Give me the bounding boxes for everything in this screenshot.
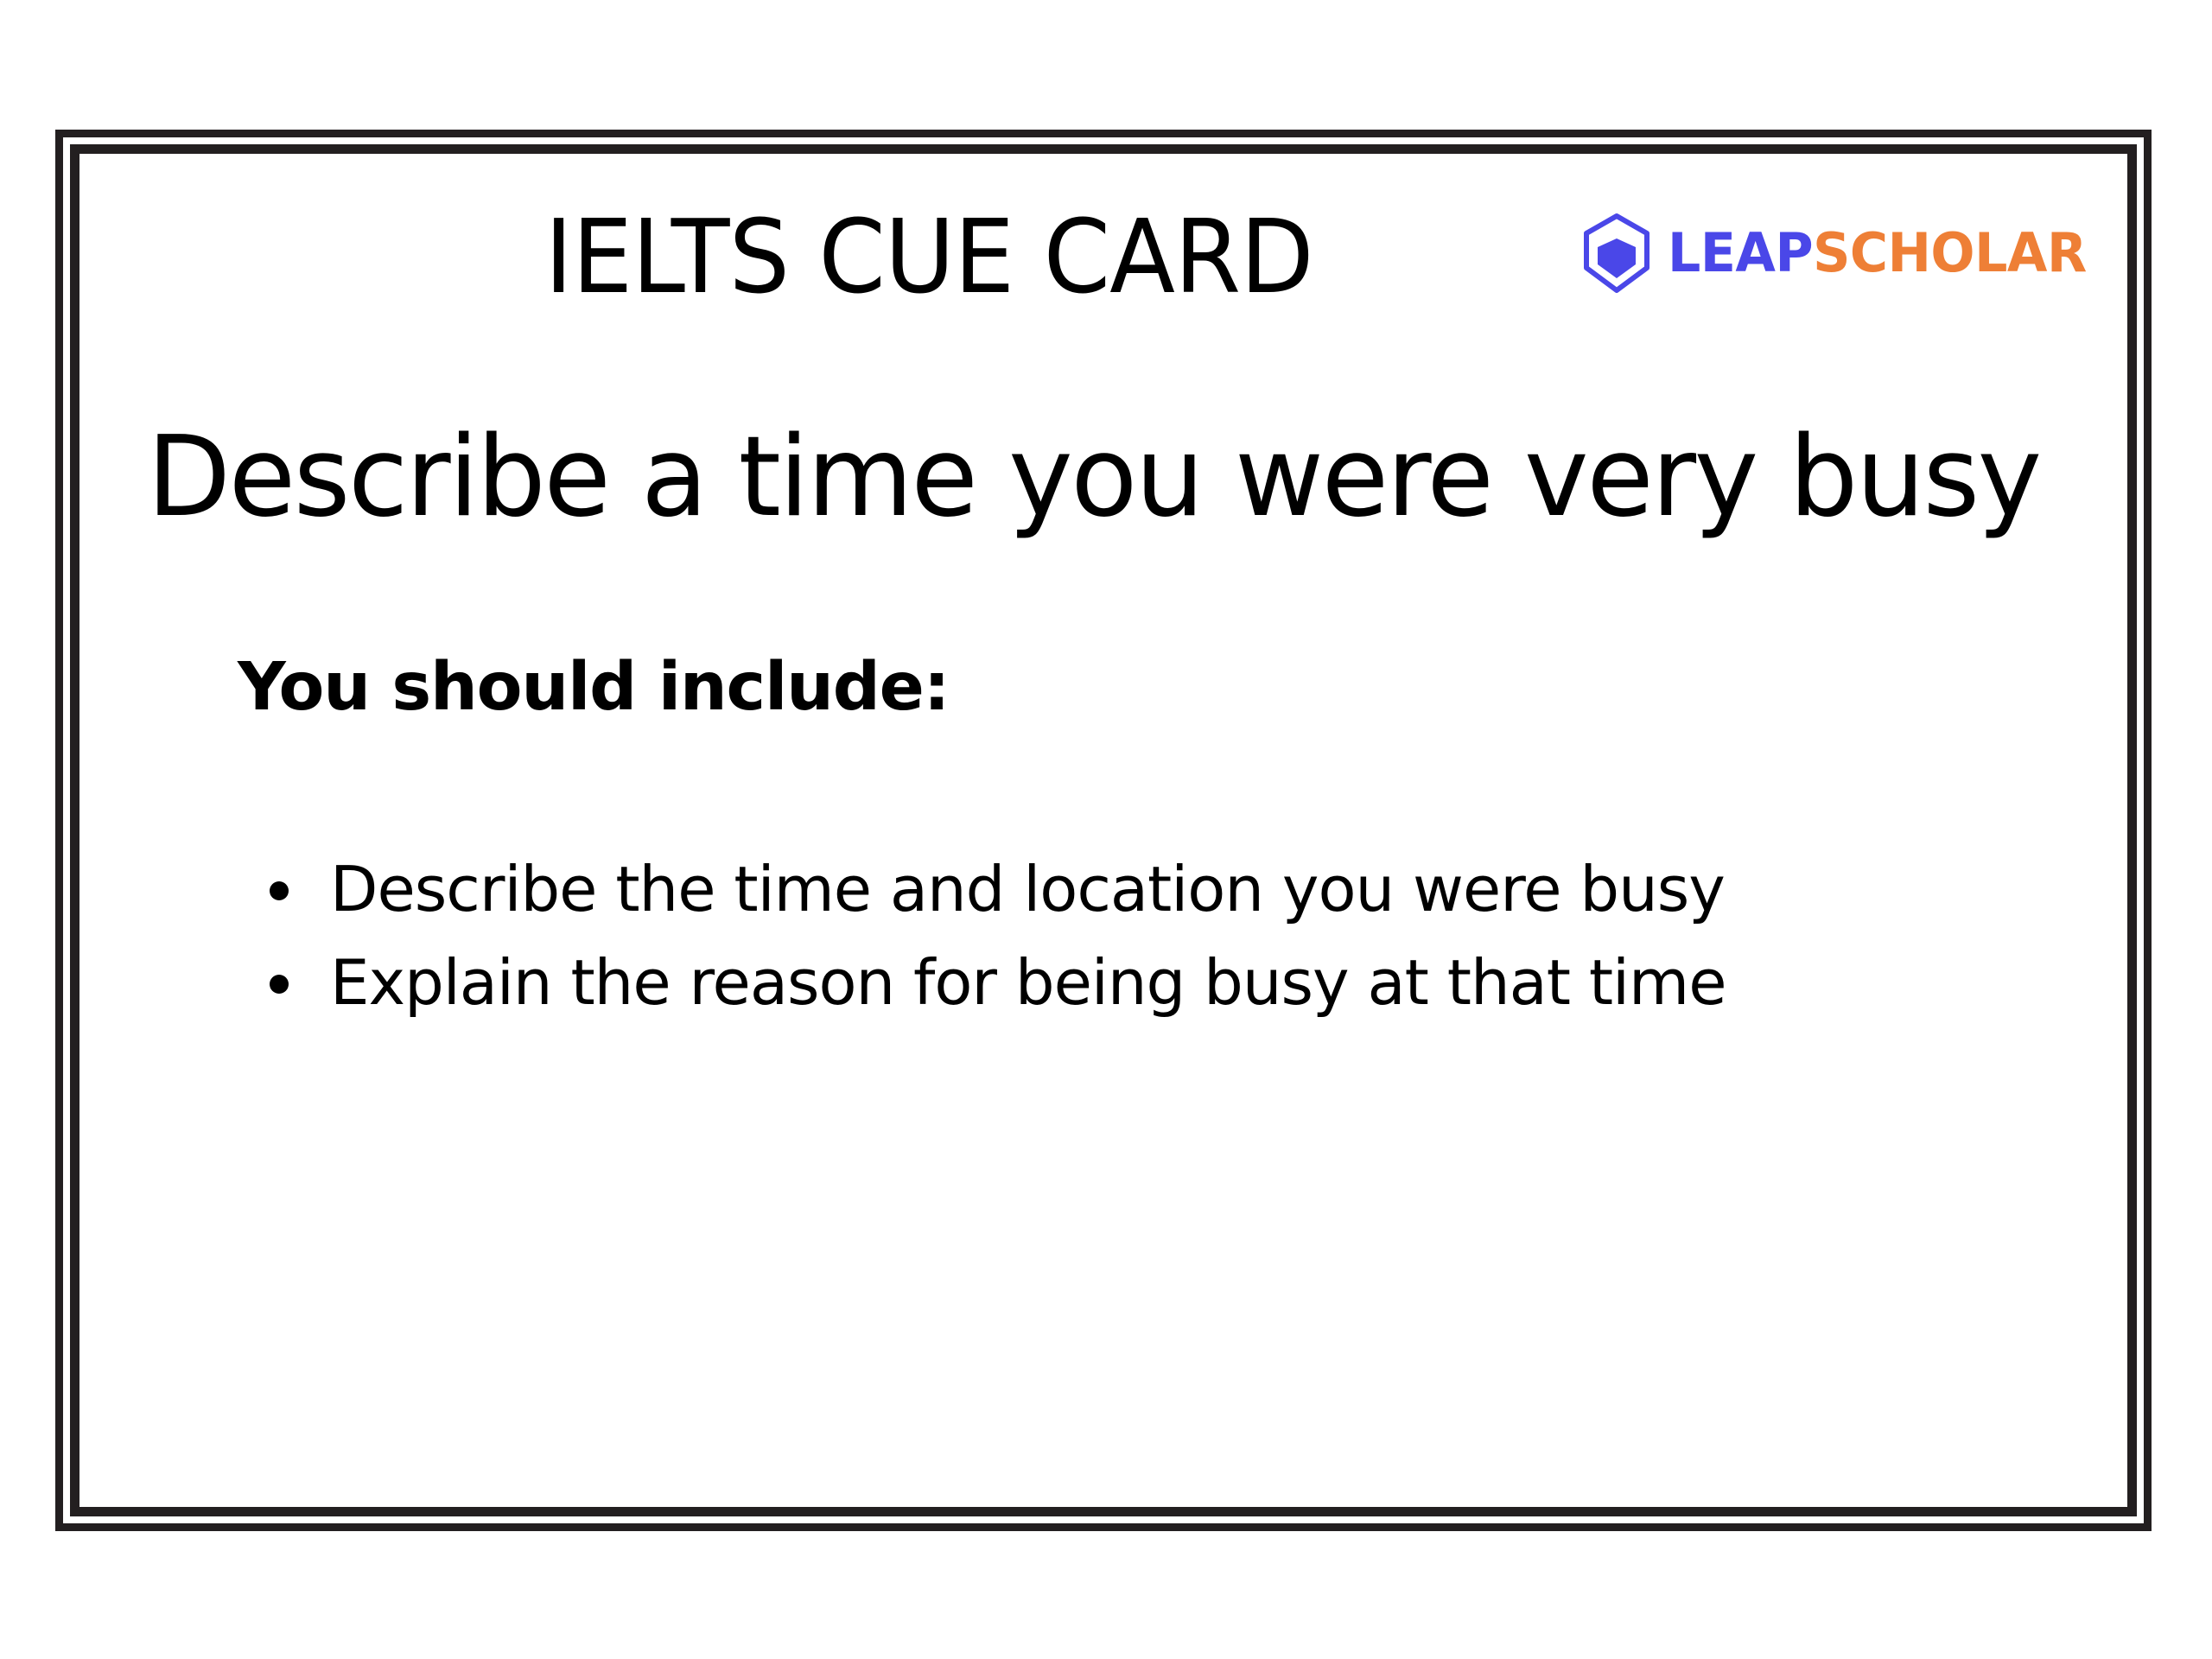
bullet-dot-icon <box>270 881 289 900</box>
leapscholar-cube-icon <box>1580 213 1654 294</box>
bullet-dot-icon <box>270 975 289 994</box>
leapscholar-logo: LEAPSCHOLAR <box>1580 213 2100 294</box>
list-item: Describe the time and location you were … <box>259 842 1726 936</box>
card-frame-inner <box>70 144 2137 1516</box>
instructions-label: You should include: <box>238 646 949 729</box>
logo-text-scholar: SCHOLAR <box>1813 221 2087 284</box>
cue-card-question: Describe a time you were very busy <box>147 413 2079 543</box>
page-title: IELTS CUE CARD <box>145 199 1713 315</box>
list-item-label: Describe the time and location you were … <box>330 853 1725 925</box>
logo-wordmark: LEAPSCHOLAR <box>1668 226 2087 280</box>
list-item: Explain the reason for being busy at tha… <box>259 936 1726 1029</box>
card-header: IELTS CUE CARD LEAPSCHOLAR <box>95 199 2108 315</box>
cue-card-page: IELTS CUE CARD LEAPSCHOLAR Describe a ti… <box>0 0 2212 1659</box>
list-item-label: Explain the reason for being busy at tha… <box>330 946 1726 1019</box>
logo-text-leap: LEAP <box>1668 221 1813 284</box>
instruction-list: Describe the time and location you were … <box>259 842 1726 1029</box>
